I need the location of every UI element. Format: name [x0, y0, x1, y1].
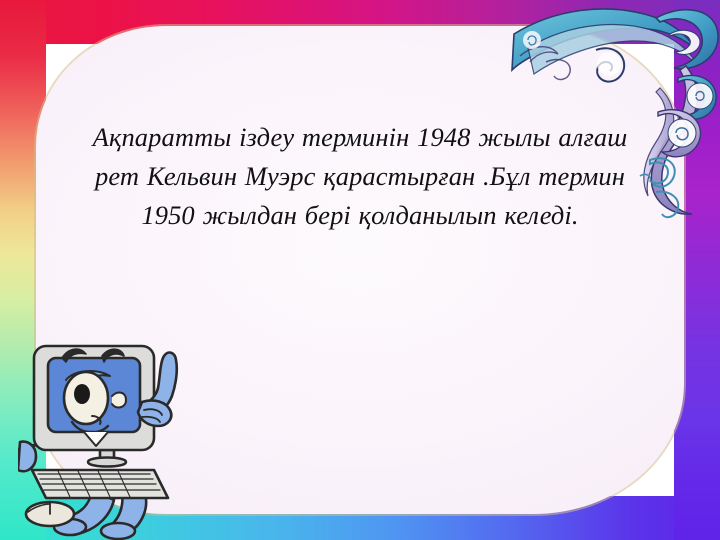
computer-character: [18, 322, 218, 540]
body-text-line-3: 1950 жылдан бері қолданылып келеді.: [36, 196, 684, 235]
body-text-line-1: Ақпаратты іздеу терминін 1948 жылы алғаш: [36, 118, 684, 157]
body-text: Ақпаратты іздеу терминін 1948 жылы алғаш…: [36, 118, 684, 235]
slide-canvas: Ақпаратты іздеу терминін 1948 жылы алғаш…: [0, 0, 720, 540]
body-text-line-2: рет Кельвин Муэрс қарастырған .Бұл терми…: [36, 157, 684, 196]
